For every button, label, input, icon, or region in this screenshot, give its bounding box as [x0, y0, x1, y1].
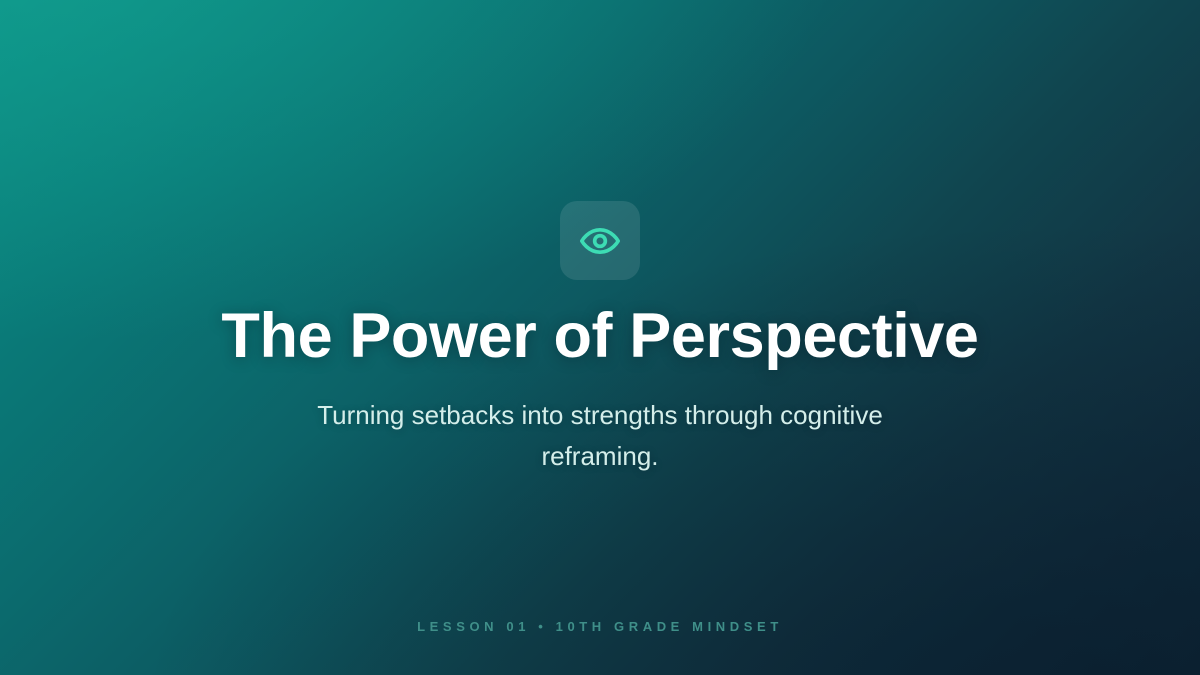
page-title: The Power of Perspective [0, 303, 1200, 369]
eye-icon-tile [560, 201, 640, 280]
eye-icon [579, 220, 621, 262]
slide-footer-label: LESSON 01 • 10TH GRADE MINDSET [0, 619, 1200, 634]
title-slide: The Power of Perspective Turning setback… [0, 0, 1200, 675]
slide-subtitle: Turning setbacks into strengths through … [300, 395, 900, 477]
